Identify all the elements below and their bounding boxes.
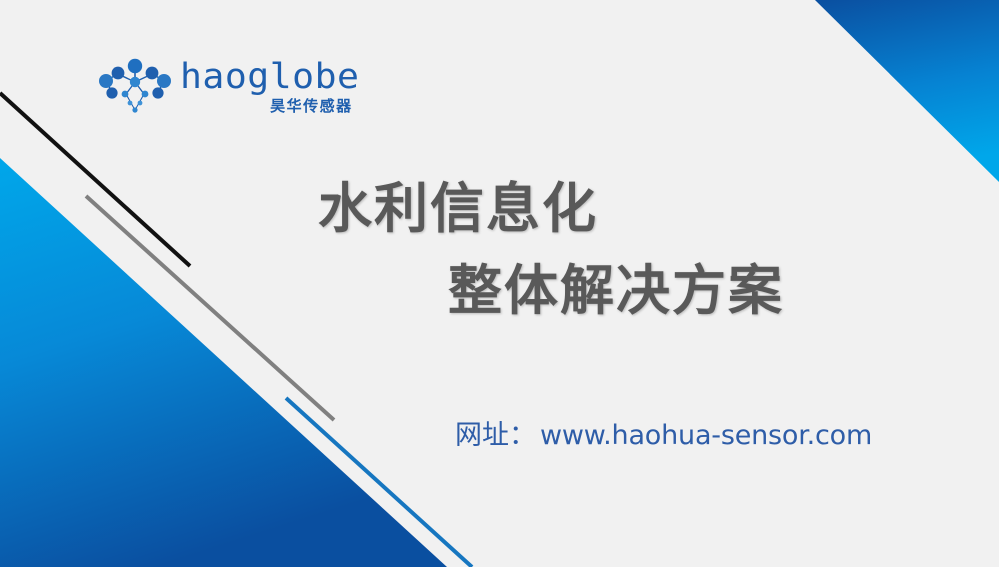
slide-title: 水利信息化 整体解决方案 — [318, 168, 938, 332]
logo-text-group: haoglobe 昊华传感器 — [180, 58, 353, 114]
website-line: 网址： www.haohua-sensor.com — [455, 419, 872, 453]
logo-wordmark: haoglobe — [180, 60, 359, 95]
website-label: 网址： — [455, 419, 536, 453]
title-line-1: 水利信息化 — [318, 168, 938, 250]
website-url[interactable]: www.haohua-sensor.com — [540, 419, 872, 453]
title-line-2: 整体解决方案 — [318, 250, 938, 332]
molecule-network-icon — [98, 58, 172, 116]
company-logo: haoglobe 昊华传感器 — [98, 58, 353, 116]
logo-wordmark-chinese: 昊华传感器 — [270, 98, 353, 114]
presentation-slide: haoglobe 昊华传感器 水利信息化 整体解决方案 网址： www.haoh… — [0, 0, 999, 567]
